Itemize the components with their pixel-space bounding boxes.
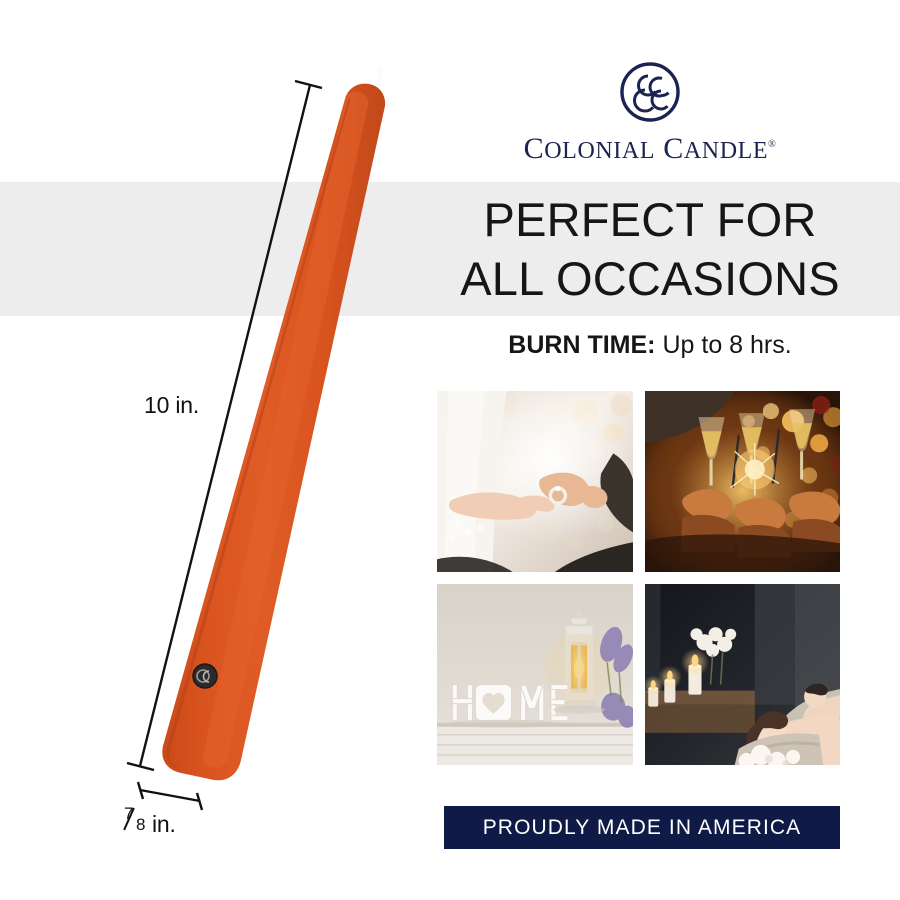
spa-candles-couple-photo <box>645 584 841 765</box>
burn-time: BURN TIME: Up to 8 hrs. <box>450 331 850 360</box>
brand-word-c1: C <box>524 132 545 165</box>
headline: PERFECT FOR ALL OCCASIONS <box>450 190 850 308</box>
brand-word-andle: ANDLE <box>684 138 768 164</box>
fraction-denominator: 8 <box>136 815 145 835</box>
cc-monogram-icon <box>618 60 682 124</box>
brand-word-olonial: OLONIAL <box>544 138 655 164</box>
fraction-seven-eighths: 7 8 <box>124 806 150 832</box>
brand-wordmark: COLONIAL CANDLE® <box>450 132 850 166</box>
champagne-sparklers-photo <box>645 391 841 572</box>
candle-svg <box>0 0 440 900</box>
burn-time-label: BURN TIME: <box>508 331 655 359</box>
registered-mark: ® <box>768 139 776 150</box>
width-dimension-label: 7 8 in. <box>124 806 176 838</box>
brand-word-c2: C <box>663 132 684 165</box>
lifestyle-photo-grid <box>437 391 840 765</box>
brand-logo: COLONIAL CANDLE® <box>450 60 850 166</box>
width-unit-label: in. <box>152 811 176 838</box>
cc-emblem-icon <box>193 664 217 688</box>
made-in-america-banner: PROUDLY MADE IN AMERICA <box>444 806 840 849</box>
burn-time-value: Up to 8 hrs. <box>662 331 791 359</box>
height-dimension-label: 10 in. <box>144 392 199 419</box>
wedding-ring-proposal-photo <box>437 391 633 572</box>
headline-line-1: PERFECT FOR <box>450 190 850 249</box>
home-sign-lantern-photo <box>437 584 633 765</box>
headline-line-2: ALL OCCASIONS <box>450 249 850 308</box>
candle-illustration: 10 in. 7 8 in. <box>0 0 440 900</box>
product-infographic: 10 in. 7 8 in. COLONIAL CANDLE® PERFECT … <box>0 0 900 900</box>
made-in-america-text: PROUDLY MADE IN AMERICA <box>483 816 802 840</box>
